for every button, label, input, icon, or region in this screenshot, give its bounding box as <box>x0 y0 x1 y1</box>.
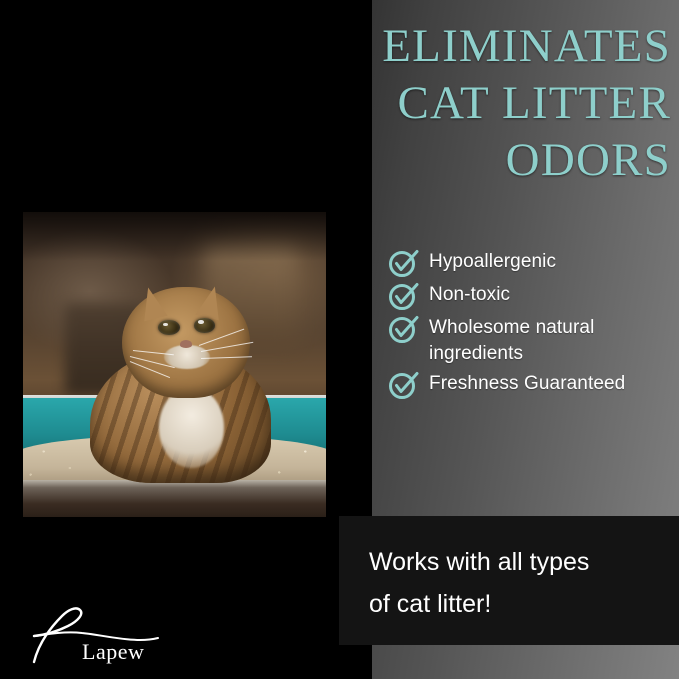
litter-tray-base <box>23 480 326 517</box>
check-circle-icon <box>388 248 419 278</box>
check-circle-icon <box>388 370 419 400</box>
kitten-nose <box>180 340 193 348</box>
check-circle-icon <box>388 314 419 344</box>
photo-top-vignette <box>23 212 326 261</box>
product-infographic: ELIMINATES CAT LITTER ODORS <box>0 0 679 679</box>
callout-line-2: of cat litter! <box>369 583 659 625</box>
callout-box: Works with all types of cat litter! <box>339 516 679 645</box>
brand-logo: Lapew <box>22 600 172 670</box>
kitten-chest <box>159 387 224 468</box>
headline-line-1: ELIMINATES <box>292 18 671 75</box>
kitten-photo <box>23 212 326 517</box>
kitten-head <box>122 287 249 398</box>
benefits-checklist: Hypoallergenic Non-toxic Wholesome natur… <box>388 248 673 403</box>
list-item-label: Non-toxic <box>429 281 510 308</box>
page-title: ELIMINATES CAT LITTER ODORS <box>292 18 679 189</box>
kitten-eye-left <box>158 320 180 334</box>
callout-line-1: Works with all types <box>369 541 659 583</box>
check-circle-icon <box>388 281 419 311</box>
headline-line-3: ODORS <box>292 132 671 189</box>
list-item-label: Hypoallergenic <box>429 248 556 275</box>
kitten-ear-right <box>195 283 226 320</box>
list-item-label: Freshness Guaranteed <box>429 370 625 397</box>
list-item: Wholesome natural ingredients <box>388 314 673 367</box>
kitten-ear-left <box>137 285 168 322</box>
kitten-whisker <box>201 342 254 352</box>
list-item-label: Wholesome natural ingredients <box>429 314 673 367</box>
kitten-eye-right <box>194 318 216 332</box>
kitten-figure <box>90 270 272 484</box>
list-item: Freshness Guaranteed <box>388 370 673 400</box>
list-item: Non-toxic <box>388 281 673 311</box>
callout-text: Works with all types of cat litter! <box>369 541 659 625</box>
brand-wordmark: Lapew <box>82 639 144 665</box>
list-item: Hypoallergenic <box>388 248 673 278</box>
headline-line-2: CAT LITTER <box>292 75 671 132</box>
